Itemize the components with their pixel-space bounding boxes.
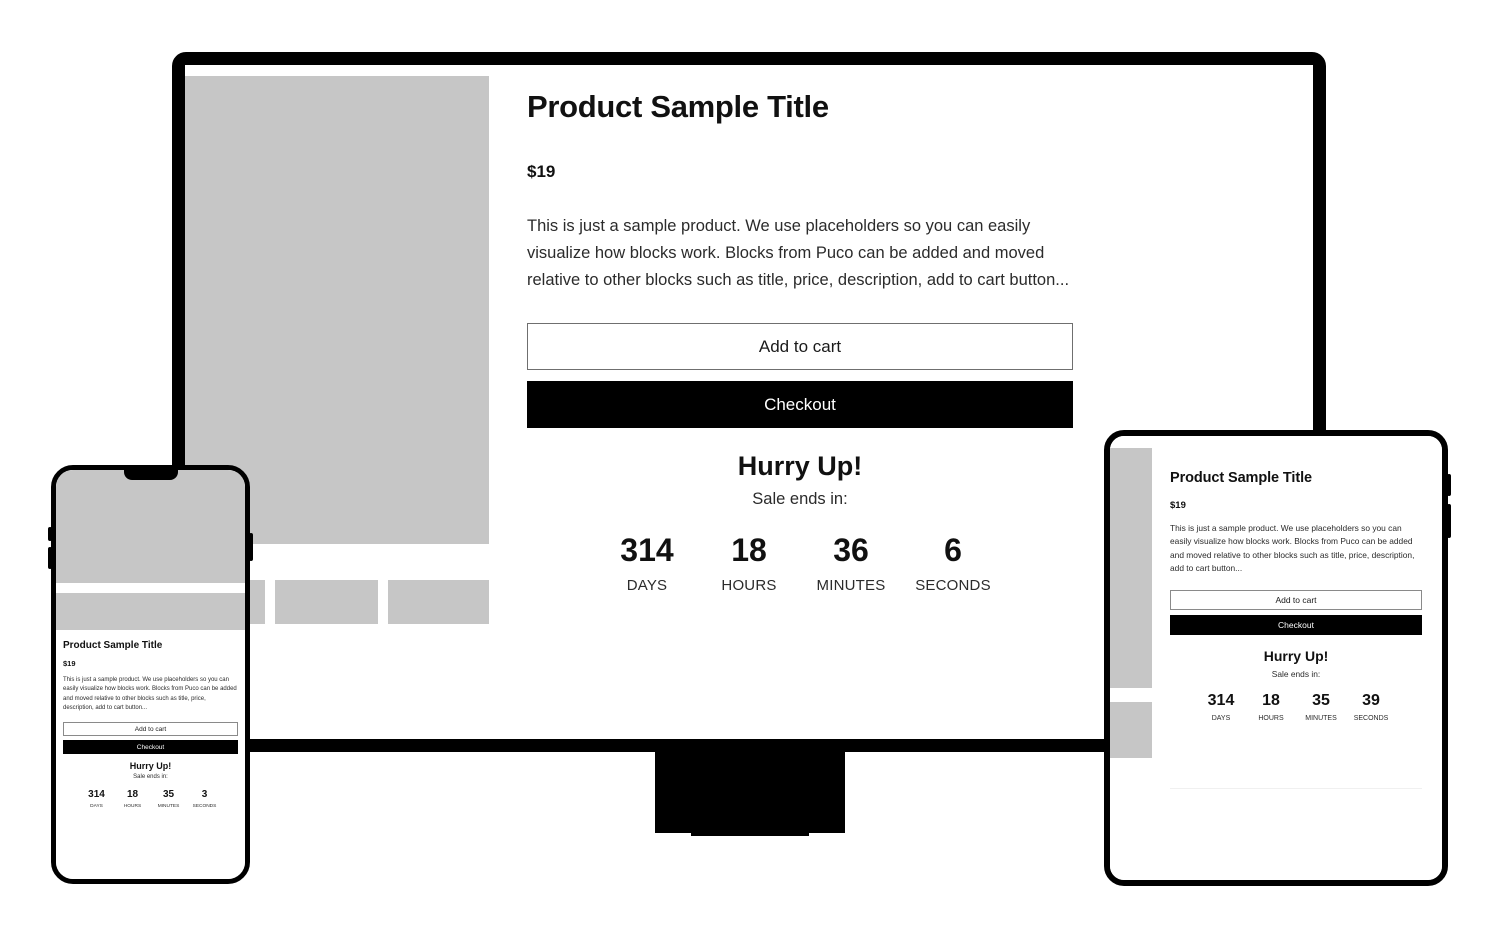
countdown-value-hours: 18	[1246, 693, 1296, 709]
countdown-unit-minutes: 36 MINUTES	[800, 534, 902, 594]
countdown-value-seconds: 3	[187, 790, 223, 800]
countdown-label-hours: HOURS	[698, 577, 800, 594]
tablet-device: Product Sample Title $19 This is just a …	[1104, 430, 1448, 886]
countdown-label-seconds: SECONDS	[1346, 715, 1396, 722]
countdown-unit-days: 314 DAYS	[79, 790, 115, 809]
countdown-label-days: DAYS	[1196, 715, 1246, 722]
countdown-value-days: 314	[1196, 693, 1246, 709]
monitor-stand-foot-right	[809, 833, 845, 843]
checkout-button[interactable]: Checkout	[527, 381, 1073, 428]
promo-headline: Hurry Up!	[1170, 648, 1422, 664]
add-to-cart-button[interactable]: Add to cart	[63, 722, 238, 736]
countdown-unit-seconds: 3 SECONDS	[187, 790, 223, 809]
countdown-label-minutes: MINUTES	[800, 577, 902, 594]
phone-product-info: Product Sample Title $19 This is just a …	[56, 630, 245, 809]
countdown-timer: 314 DAYS 18 HOURS 36 MINUTES 6	[527, 534, 1073, 594]
checkout-button[interactable]: Checkout	[63, 740, 238, 754]
device-mockup-scene: Product Sample Title $19 This is just a …	[0, 0, 1500, 938]
countdown-unit-hours: 18 HOURS	[115, 790, 151, 809]
phone-volume-up-button[interactable]	[48, 527, 52, 541]
phone-notch	[124, 470, 178, 480]
product-title: Product Sample Title	[527, 90, 1283, 124]
countdown-value-hours: 18	[115, 790, 151, 800]
product-image-placeholder[interactable]	[1110, 448, 1152, 688]
countdown-label-days: DAYS	[596, 577, 698, 594]
product-thumbnail[interactable]	[275, 580, 378, 624]
promo-subheadline: Sale ends in:	[63, 774, 238, 780]
countdown-label-minutes: MINUTES	[1296, 715, 1346, 722]
countdown-value-seconds: 6	[902, 534, 1004, 566]
tablet-power-button[interactable]	[1447, 504, 1451, 538]
product-price: $19	[63, 659, 238, 668]
tablet-screen: Product Sample Title $19 This is just a …	[1110, 436, 1442, 880]
monitor-stand-foot-left	[655, 833, 691, 843]
product-thumbnail[interactable]	[1110, 702, 1152, 758]
countdown-label-seconds: SECONDS	[187, 804, 223, 809]
product-price: $19	[1170, 500, 1422, 511]
promo-subheadline: Sale ends in:	[527, 490, 1073, 509]
promo-subheadline: Sale ends in:	[1170, 669, 1422, 679]
countdown-label-hours: HOURS	[1246, 715, 1296, 722]
product-description: This is just a sample product. We use pl…	[63, 676, 238, 713]
promo-headline: Hurry Up!	[63, 761, 238, 771]
phone-power-button[interactable]	[249, 533, 253, 561]
tablet-product-gallery	[1110, 436, 1152, 880]
tablet-product-page: Product Sample Title $19 This is just a …	[1110, 436, 1442, 880]
phone-screen: Product Sample Title $19 This is just a …	[56, 470, 245, 879]
countdown-unit-minutes: 35 MINUTES	[1296, 693, 1346, 722]
checkout-button[interactable]: Checkout	[1170, 615, 1422, 635]
product-thumbnail[interactable]	[388, 580, 489, 624]
product-price: $19	[527, 162, 1283, 182]
product-thumbnail-row[interactable]	[56, 593, 245, 630]
countdown-unit-seconds: 6 SECONDS	[902, 534, 1004, 594]
product-description: This is just a sample product. We use pl…	[527, 213, 1072, 293]
countdown-label-hours: HOURS	[115, 804, 151, 809]
product-title: Product Sample Title	[63, 640, 238, 651]
countdown-value-minutes: 35	[151, 790, 187, 800]
mobile-phone-device: Product Sample Title $19 This is just a …	[51, 465, 250, 884]
countdown-unit-hours: 18 HOURS	[698, 534, 800, 594]
countdown-unit-seconds: 39 SECONDS	[1346, 693, 1396, 722]
countdown-timer: 314 DAYS 18 HOURS 35 MINUTES 3 SECONDS	[63, 790, 238, 809]
countdown-unit-hours: 18 HOURS	[1246, 693, 1296, 722]
countdown-value-minutes: 36	[800, 534, 902, 566]
countdown-value-days: 314	[79, 790, 115, 800]
countdown-value-minutes: 35	[1296, 693, 1346, 709]
countdown-unit-days: 314 DAYS	[1196, 693, 1246, 722]
tablet-footer-divider	[1170, 788, 1422, 789]
countdown-value-days: 314	[596, 534, 698, 566]
countdown-label-seconds: SECONDS	[902, 577, 1004, 594]
countdown-label-days: DAYS	[79, 804, 115, 809]
add-to-cart-button[interactable]: Add to cart	[1170, 590, 1422, 610]
tablet-volume-button[interactable]	[1447, 474, 1451, 496]
product-image-placeholder[interactable]	[56, 470, 245, 583]
countdown-unit-days: 314 DAYS	[596, 534, 698, 594]
product-title: Product Sample Title	[1170, 470, 1422, 486]
countdown-label-minutes: MINUTES	[151, 804, 187, 809]
countdown-value-hours: 18	[698, 534, 800, 566]
countdown-unit-minutes: 35 MINUTES	[151, 790, 187, 809]
countdown-value-seconds: 39	[1346, 693, 1396, 709]
tablet-product-info: Product Sample Title $19 This is just a …	[1152, 436, 1442, 880]
promo-headline: Hurry Up!	[527, 451, 1073, 482]
countdown-timer: 314 DAYS 18 HOURS 35 MINUTES 39	[1170, 693, 1422, 722]
phone-volume-down-button[interactable]	[48, 547, 52, 569]
product-description: This is just a sample product. We use pl…	[1170, 522, 1422, 576]
add-to-cart-button[interactable]: Add to cart	[527, 323, 1073, 370]
